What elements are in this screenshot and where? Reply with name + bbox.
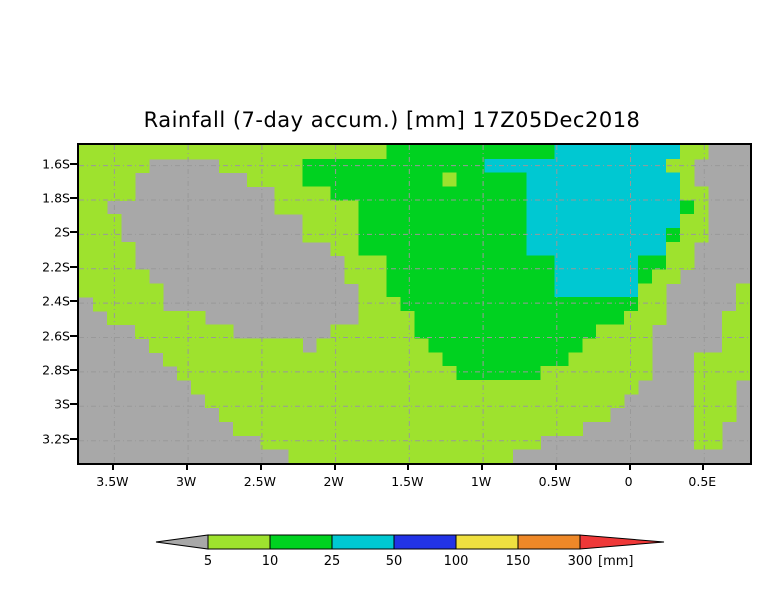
colorbar-segment[interactable] <box>456 535 518 549</box>
colorbar-segment[interactable] <box>332 535 394 549</box>
y-axis-tick-mark <box>70 300 77 302</box>
colorbar-segment[interactable] <box>518 535 580 549</box>
x-axis-tick-label: 3W <box>176 474 196 489</box>
page-title: Rainfall (7-day accum.) [mm] 17Z05Dec201… <box>0 108 784 132</box>
y-axis-tick-mark <box>70 266 77 268</box>
colorbar-segment[interactable] <box>394 535 456 549</box>
colorbar-segment[interactable] <box>208 535 270 549</box>
colorbar-tick-label: 50 <box>386 554 403 569</box>
y-axis-tick-mark <box>70 403 77 405</box>
y-axis-tick-mark <box>70 369 77 371</box>
x-axis-tick-label: 2W <box>323 474 343 489</box>
y-axis: 1.6S1.8S2S2.2S2.4S2.6S2.8S3S3.2S <box>0 143 77 461</box>
colorbar-tick-label: 300 <box>568 554 593 569</box>
x-axis: 3.5W3W2.5W2W1.5W1W0.5W00.5E <box>77 463 748 493</box>
x-axis-tick-label: 3.5W <box>96 474 128 489</box>
y-axis-tick-mark <box>70 163 77 165</box>
colorbar-tick-label: 5 <box>204 554 212 569</box>
y-axis-tick-mark <box>70 197 77 199</box>
y-axis-tick-mark <box>70 231 77 233</box>
x-axis-tick-mark <box>629 463 631 470</box>
x-axis-tick-label: 0.5W <box>539 474 571 489</box>
x-axis-tick-label: 1.5W <box>391 474 423 489</box>
rainfall-heatmap-canvas[interactable] <box>79 145 750 463</box>
x-axis-tick-mark <box>112 463 114 470</box>
colorbar-swatches[interactable] <box>150 528 670 554</box>
x-axis-tick-mark <box>702 463 704 470</box>
x-axis-tick-mark <box>555 463 557 470</box>
colorbar-tick-label: 25 <box>324 554 341 569</box>
x-axis-tick-label: 2.5W <box>244 474 276 489</box>
colorbar-tick-label: 100 <box>444 554 469 569</box>
colorbar-segment-below-min[interactable] <box>156 535 208 549</box>
x-axis-tick-mark <box>186 463 188 470</box>
colorbar[interactable]: [mm] 5102550100150300 <box>150 528 670 578</box>
x-axis-tick-mark <box>260 463 262 470</box>
plot-area[interactable] <box>77 143 752 465</box>
colorbar-unit-label: [mm] <box>598 554 633 569</box>
colorbar-segment-above-max[interactable] <box>580 535 664 549</box>
x-axis-tick-label: 1W <box>471 474 491 489</box>
y-axis-tick-mark <box>70 335 77 337</box>
x-axis-tick-label: 0 <box>625 474 633 489</box>
colorbar-tick-label: 150 <box>506 554 531 569</box>
x-axis-tick-mark <box>407 463 409 470</box>
rainfall-map-figure: Rainfall (7-day accum.) [mm] 17Z05Dec201… <box>0 0 784 612</box>
x-axis-tick-mark <box>481 463 483 470</box>
colorbar-segment[interactable] <box>270 535 332 549</box>
colorbar-tick-label: 10 <box>262 554 279 569</box>
x-axis-tick-mark <box>334 463 336 470</box>
y-axis-tick-mark <box>70 438 77 440</box>
x-axis-tick-label: 0.5E <box>688 474 716 489</box>
